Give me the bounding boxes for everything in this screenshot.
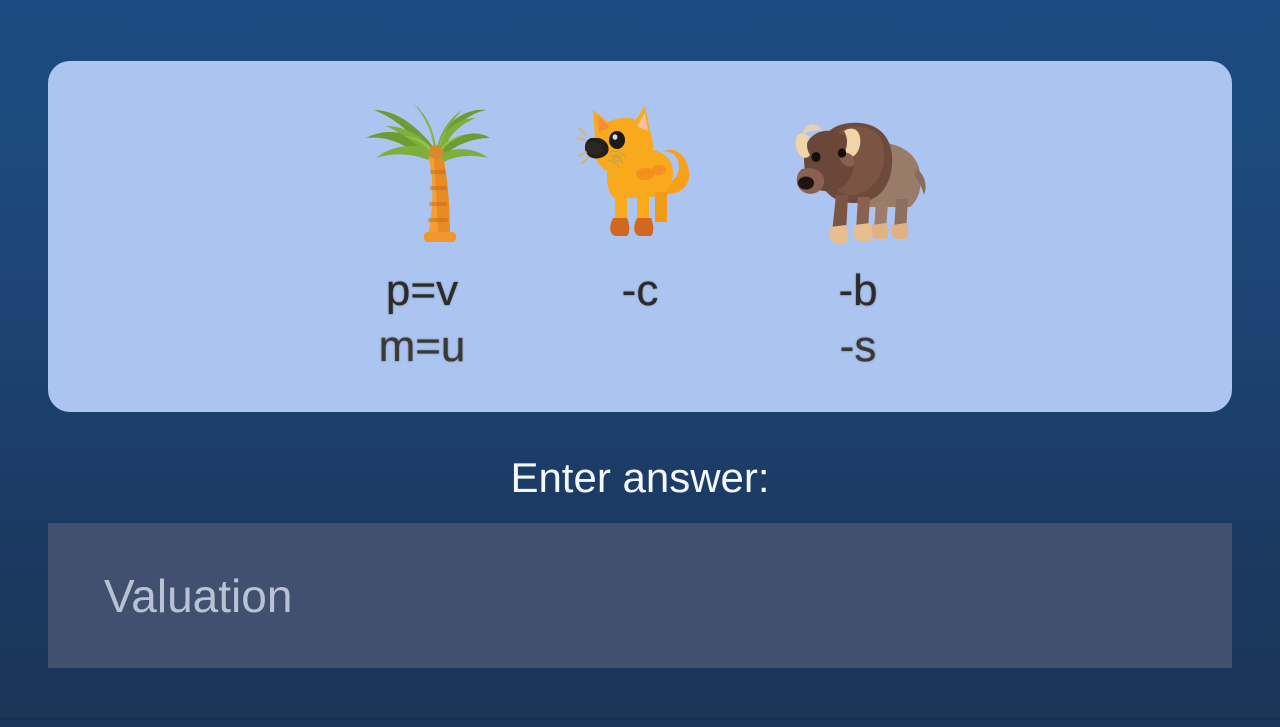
puzzle-item-3-label-line2: -s [840, 319, 877, 375]
answer-prompt-label: Enter answer: [0, 448, 1280, 508]
puzzle-item-1-label-line1: p=v [386, 263, 458, 319]
palm-tree-emoji [354, 97, 490, 257]
puzzle-item-1: p=v m=u [313, 61, 531, 375]
cat-emoji [575, 97, 705, 257]
bison-emoji [784, 97, 932, 257]
puzzle-item-3-label-line1: -b [838, 263, 877, 319]
puzzle-item-2: -c [531, 61, 749, 319]
bottom-divider [0, 718, 1280, 720]
puzzle-item-3-labels: -b -s [838, 263, 877, 375]
puzzle-item-1-labels: p=v m=u [379, 263, 466, 375]
puzzle-item-1-label-line2: m=u [379, 319, 466, 375]
cat-icon [575, 102, 705, 252]
puzzle-item-2-labels: -c [622, 263, 659, 319]
puzzle-item-2-label-line1: -c [622, 263, 659, 319]
puzzle-panel: p=v m=u [48, 61, 1232, 412]
bison-icon [784, 103, 932, 251]
palm-tree-icon [354, 102, 490, 252]
puzzle-item-3: -b -s [749, 61, 967, 375]
answer-input[interactable] [48, 523, 1232, 668]
puzzle-item-row: p=v m=u [48, 61, 1232, 412]
